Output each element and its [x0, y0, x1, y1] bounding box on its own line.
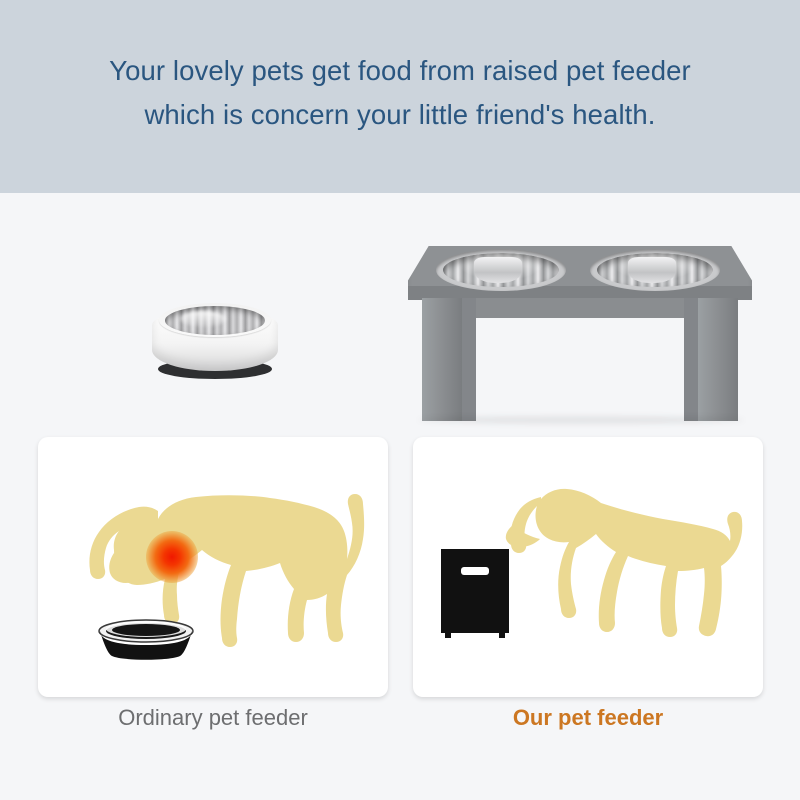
- raised-feeder-icon: [441, 549, 509, 638]
- caption-ours: Our pet feeder: [413, 705, 763, 731]
- promo-page: Your lovely pets get food from raised pe…: [0, 0, 800, 800]
- comparison-section: Ordinary pet feeder Our pet feeder: [0, 0, 800, 800]
- comparison-card-ordinary: [38, 437, 388, 697]
- floor-bowl: [99, 620, 193, 660]
- dog-silhouette-upright: [510, 489, 742, 637]
- comparison-card-ours: [413, 437, 763, 697]
- ours-illustration: [413, 437, 763, 697]
- caption-ordinary: Ordinary pet feeder: [38, 705, 388, 731]
- ordinary-illustration: [38, 437, 388, 697]
